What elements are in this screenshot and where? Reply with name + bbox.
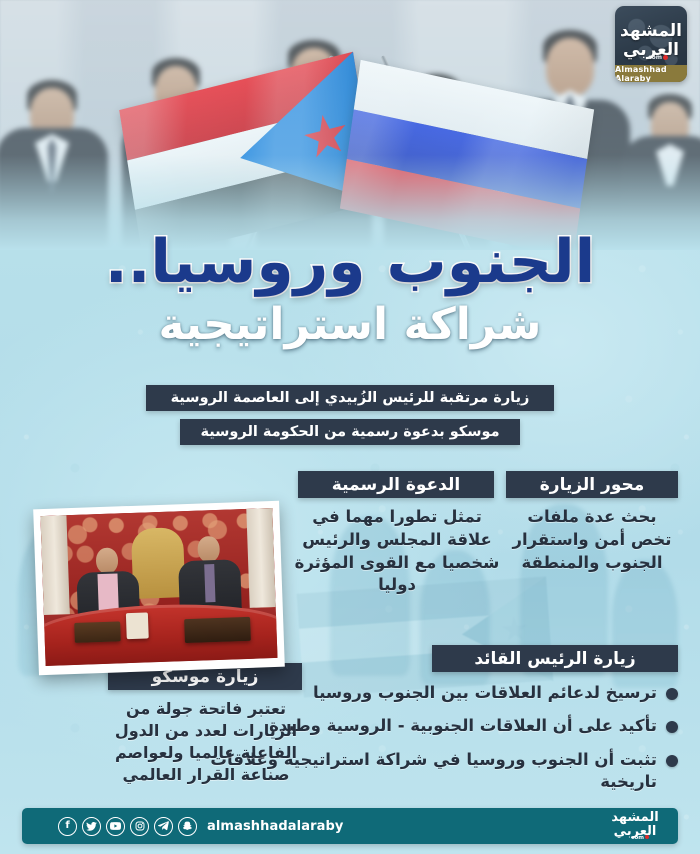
telegram-icon[interactable]: [154, 817, 173, 836]
main-title: الجنوب وروسيا..: [0, 232, 700, 292]
bullet-text: ترسيخ لدعائم العلاقات بين الجنوب وروسيا: [313, 682, 657, 704]
instagram-icon[interactable]: [130, 817, 149, 836]
subtitle-bar-2: موسكو بدعوة رسمية من الحكومة الروسية: [180, 419, 520, 445]
brand-logo-dot: [663, 55, 668, 60]
inset-photo-image: [40, 508, 277, 666]
subtitle-bar-1: زيارة مرتقبة للرئيس الزُبيدي إلى العاصمة…: [146, 385, 554, 411]
footer-brand-logo[interactable]: المشهد العربي com: [604, 811, 666, 841]
hero-photo-band: [0, 0, 700, 250]
footer-bar: f almashhadalaraby المشهد العربي com: [22, 808, 678, 844]
section-body-visit-axis: بحث عدة ملفات تخص أمن واستقرار الجنوب وا…: [506, 506, 678, 574]
social-handle[interactable]: almashhadalaraby: [207, 819, 343, 834]
bullet-text: تأكيد على أن العلاقات الجنوبية - الروسية…: [269, 715, 657, 737]
bullet-dot-icon: [666, 688, 678, 700]
hero-fade-overlay: [0, 0, 700, 250]
section-body-official-invitation: تمثل تطورا مهما في علاقة المجلس والرئيس …: [294, 506, 500, 597]
facebook-icon[interactable]: f: [58, 817, 77, 836]
bullet-dot-icon: [666, 721, 678, 733]
infographic-poster: المشهد العربي com Almashhad Alaraby الجن…: [0, 0, 700, 854]
section-heading-leader-visit: زيارة الرئيس القائد: [432, 645, 678, 672]
brand-logo-latin: Almashhad Alaraby: [615, 65, 687, 82]
footer-logo-line1: المشهد: [604, 811, 666, 825]
snapchat-icon[interactable]: [178, 817, 197, 836]
twitter-icon[interactable]: [82, 817, 101, 836]
social-icon-group: f: [58, 817, 197, 836]
brand-logo-line1: المشهد: [615, 22, 687, 41]
inset-photo: [33, 501, 285, 675]
section-heading-official-invitation: الدعوة الرسمية: [298, 471, 494, 498]
footer-logo-dot: [645, 835, 649, 839]
sub-title: شراكة استراتيجية: [0, 303, 700, 347]
brand-logo[interactable]: المشهد العربي com Almashhad Alaraby: [615, 6, 687, 82]
bullet-dot-icon: [666, 755, 678, 767]
brand-logo-com: com: [648, 54, 662, 61]
section-heading-visit-axis: محور الزيارة: [506, 471, 678, 498]
footer-logo-com: com: [631, 835, 644, 841]
section-body-moscow-visit: تعتبر فاتحة جولة من الزيارات لعدد من الد…: [100, 698, 312, 786]
youtube-icon[interactable]: [106, 817, 125, 836]
